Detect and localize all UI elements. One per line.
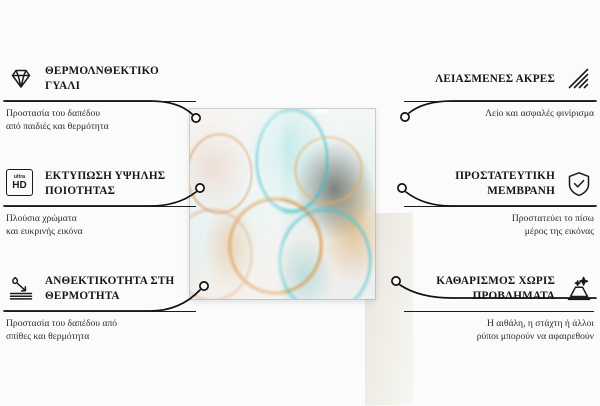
divider [6, 101, 196, 102]
easy-cleaning-icon [564, 274, 594, 304]
product-feature-infographic: ΘΕΡΜΟΛΝΘΕΚΤΙΚΟ ΓΥΑΛΙ Προστασία του δαπέδ… [0, 0, 600, 400]
heat-resistance-icon [6, 274, 36, 304]
divider [6, 311, 196, 312]
divider [404, 206, 594, 207]
feature-description: Πλούσια χρώματα και ευκρινής εικόνα [6, 212, 196, 238]
feature-description: Προστασία του δαπέδου από παιδιές και θε… [6, 107, 196, 133]
smoothed-edges-icon [564, 64, 594, 94]
diamond-icon [6, 64, 36, 94]
feature-description: Προστασία του δαπέδου από σπίθες και θερ… [6, 317, 196, 343]
feature-description: Λείο και ασφαλές φινίρισμα [404, 107, 594, 120]
feature-heat-resistant-glass: ΘΕΡΜΟΛΝΘΕΚΤΙΚΟ ΓΥΑΛΙ Προστασία του δαπέδ… [6, 62, 196, 133]
feature-high-quality-print: ultra HD ΕΚΤΥΠΩΣΗ ΥΨΗΛΗΣ ΠΟΙΟΤΗΤΑΣ Πλούσ… [6, 167, 196, 238]
ultra-hd-icon: ultra HD [6, 169, 36, 199]
ultra-hd-icon-bottom-label: HD [12, 181, 26, 191]
feature-title: ΑΝΘΕΚΤΙΚΟΤΗΤΑ ΣΤΗ ΘΕΡΜΟΤΗΤΑ [45, 274, 196, 304]
divider [404, 101, 594, 102]
divider [404, 311, 594, 312]
ultra-hd-icon-top-label: ultra [14, 175, 25, 180]
divider [6, 206, 196, 207]
feature-title: ΛΕΙΑΣΜΕΝΕΣ ΑΚΡΕΣ [435, 72, 555, 87]
feature-protective-membrane: ΠΡΟΣΤΑΤΕΥΤΙΚΗ ΜΕΜΒΡΑΝΗ Προστατεύει το πί… [404, 167, 594, 238]
feature-title: ΠΡΟΣΤΑΤΕΥΤΙΚΗ ΜΕΜΒΡΑΝΗ [404, 169, 555, 199]
feature-easy-cleaning: ΚΑΘΑΡΙΣΜΟΣ ΧΩΡΙΣ ΠΡΟΒΛΗΜΑΤΑ Η αιθάλη, η … [404, 272, 594, 343]
feature-description: Προστατεύει το πίσω μέρος της εικόνας [404, 212, 594, 238]
feature-description: Η αιθάλη, η στάχτη ή άλλοι ρύποι μπορούν… [404, 317, 594, 343]
feature-smoothed-edges: ΛΕΙΑΣΜΕΝΕΣ ΑΚΡΕΣ Λείο και ασφαλές φινίρι… [404, 62, 594, 120]
feature-title: ΚΑΘΑΡΙΣΜΟΣ ΧΩΡΙΣ ΠΡΟΒΛΗΜΑΤΑ [404, 274, 555, 304]
feature-title: ΘΕΡΜΟΛΝΘΕΚΤΙΚΟ ΓΥΑΛΙ [45, 64, 196, 94]
shield-check-icon [564, 169, 594, 199]
feature-title: ΕΚΤΥΠΩΣΗ ΥΨΗΛΗΣ ΠΟΙΟΤΗΤΑΣ [45, 169, 196, 199]
feature-heat-durability: ΑΝΘΕΚΤΙΚΟΤΗΤΑ ΣΤΗ ΘΕΡΜΟΤΗΤΑ Προστασία το… [6, 272, 196, 343]
